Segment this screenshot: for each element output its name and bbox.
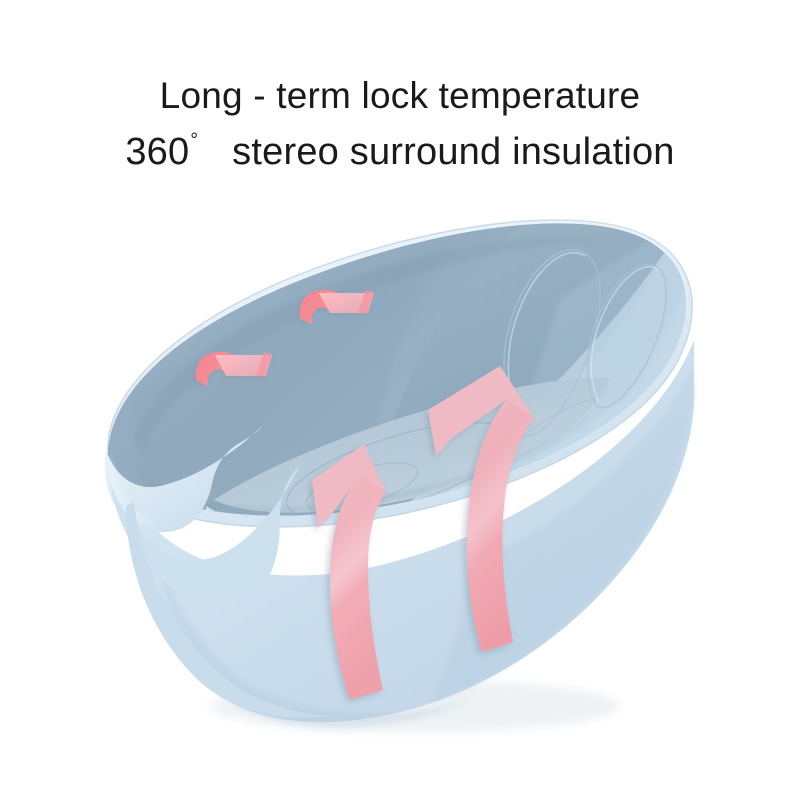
bathtub-illustration xyxy=(0,0,800,800)
product-feature-banner: Long - term lock temperature 360°stereo … xyxy=(0,0,800,800)
